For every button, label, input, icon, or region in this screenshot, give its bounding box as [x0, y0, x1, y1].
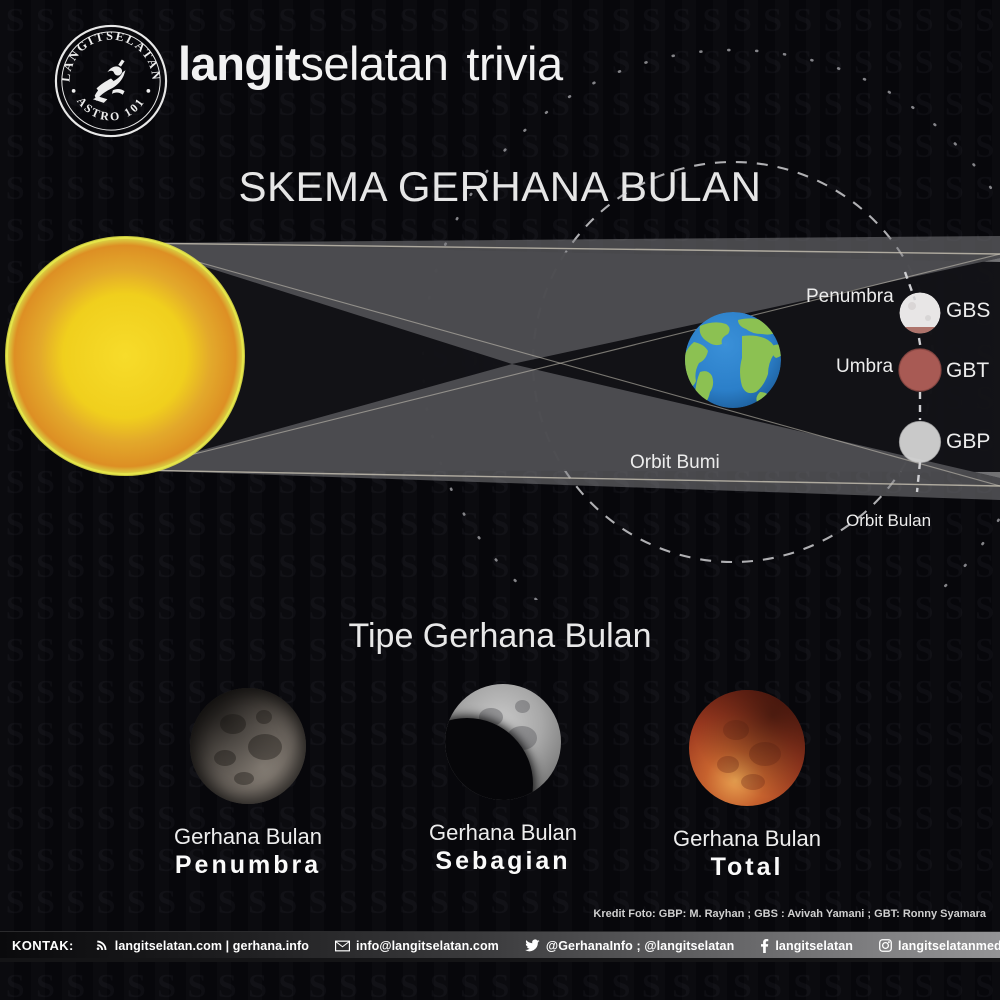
label-gbs: GBS [946, 299, 990, 323]
contact-item-text: langitselatan [775, 939, 853, 953]
contact-item-twitter[interactable]: @GerhanaInfo ; @langitselatan [525, 939, 734, 953]
type-label-line2: Total [617, 853, 877, 882]
contact-label: KONTAK: [12, 938, 74, 953]
type-label-line2: Sebagian [373, 847, 633, 876]
contact-item-text: info@langitselatan.com [356, 939, 499, 953]
contact-item-text: langitselatan.com | gerhana.info [115, 939, 309, 953]
moon-total-photo [689, 690, 805, 806]
type-card-sebagian: Gerhana Bulan Sebagian [373, 684, 633, 876]
contact-item-facebook[interactable]: langitselatan [760, 939, 853, 953]
type-label-line1: Gerhana Bulan [617, 826, 877, 852]
contact-item-website[interactable]: langitselatan.com | gerhana.info [96, 939, 309, 953]
rss-icon [96, 939, 109, 952]
label-penumbra: Penumbra [806, 286, 894, 308]
type-card-penumbra: Gerhana Bulan Penumbra [118, 688, 378, 880]
label-gbp: GBP [946, 430, 990, 454]
types-section-title: Tipe Gerhana Bulan [0, 617, 1000, 656]
label-orbit-bulan: Orbit Bulan [846, 511, 931, 531]
contact-item-text: @GerhanaInfo ; @langitselatan [546, 939, 734, 953]
contact-item-email[interactable]: info@langitselatan.com [335, 939, 499, 953]
type-label-line2: Penumbra [118, 851, 378, 880]
label-umbra: Umbra [836, 356, 893, 378]
contact-item-instagram[interactable]: langitselatanmedia [879, 939, 1000, 953]
envelope-icon [335, 940, 350, 952]
instagram-icon [879, 939, 892, 952]
facebook-icon [760, 939, 769, 953]
label-orbit-bumi: Orbit Bumi [630, 452, 720, 474]
moon-partial-photo [445, 684, 561, 800]
photo-credit: Kredit Foto: GBP: M. Rayhan ; GBS : Aviv… [593, 908, 986, 920]
type-label-line1: Gerhana Bulan [118, 824, 378, 850]
moon-penumbral-photo [190, 688, 306, 804]
contact-footer: KONTAK: langitselatan.com | gerhana.info… [0, 931, 1000, 960]
twitter-icon [525, 939, 540, 952]
eclipse-types-row: Gerhana Bulan Penumbra Gerhana Bulan Seb… [0, 670, 1000, 880]
contact-item-text: langitselatanmedia [898, 939, 1000, 953]
infographic-root: SSSSSSSSSSSSSSSSSSSSSSSSSSSSSSSSSSSSSSSS… [0, 0, 1000, 1000]
label-gbt: GBT [946, 359, 989, 383]
type-card-total: Gerhana Bulan Total [617, 690, 877, 882]
type-label-line1: Gerhana Bulan [373, 820, 633, 846]
footer-underbar [0, 958, 1000, 962]
